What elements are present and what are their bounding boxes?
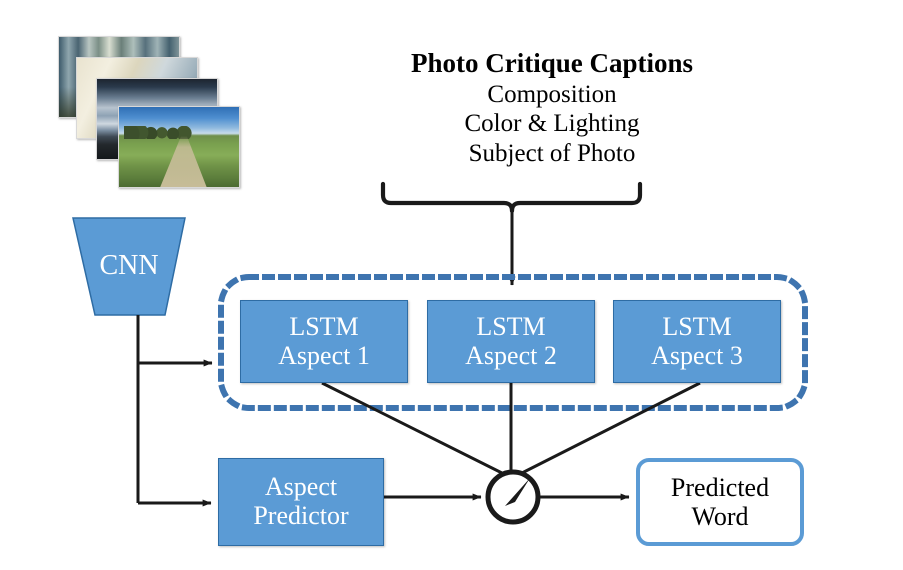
lstm-aspect-3-line1: LSTM: [662, 313, 731, 342]
aspect-predictor-line2: Predictor: [253, 502, 348, 531]
lstm-aspect-2-line2: Aspect 2: [465, 342, 557, 371]
aspect-predictor-line1: Aspect: [265, 473, 337, 502]
lstm-aspect-3-box[interactable]: LSTM Aspect 3: [613, 300, 781, 383]
aspect-predictor-box[interactable]: Aspect Predictor: [218, 458, 384, 546]
lstm-aspect-2-box[interactable]: LSTM Aspect 2: [427, 300, 595, 383]
captions-brace: [383, 184, 640, 211]
predicted-word-line1: Predicted: [671, 473, 769, 502]
lstm-aspect-1-box[interactable]: LSTM Aspect 1: [240, 300, 408, 383]
predicted-word-line2: Word: [691, 502, 748, 531]
lstm-aspect-1-line1: LSTM: [289, 313, 358, 342]
lstm-aspect-3-line2: Aspect 3: [651, 342, 743, 371]
predicted-word-box[interactable]: Predicted Word: [636, 458, 804, 546]
lstm-aspect-2-line1: LSTM: [476, 313, 545, 342]
figure-canvas: Photo Critique Captions Composition Colo…: [0, 0, 903, 570]
lstm-aspect-1-line2: Aspect 1: [278, 342, 370, 371]
cnn-trapezoid: [73, 218, 185, 315]
selector-circle[interactable]: [488, 472, 538, 522]
